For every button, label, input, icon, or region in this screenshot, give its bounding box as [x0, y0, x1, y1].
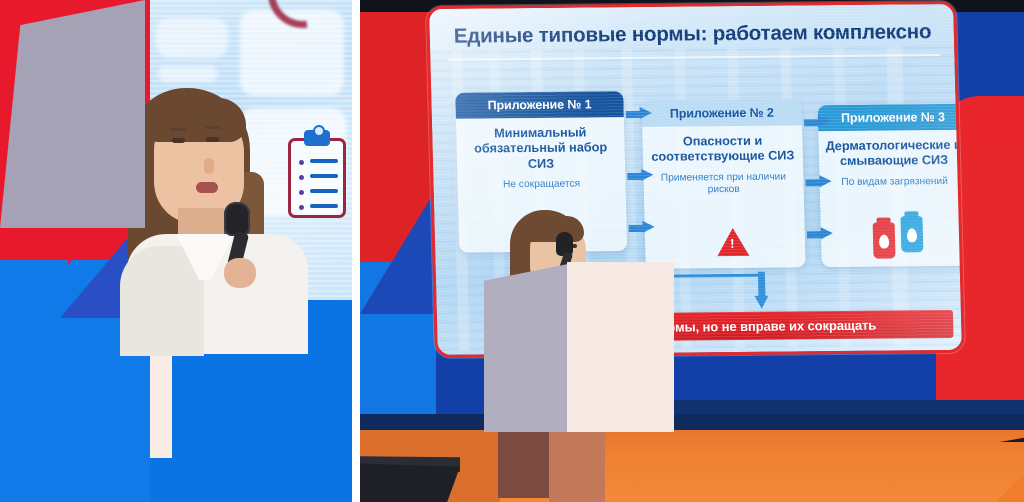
left-speaker-figure — [120, 82, 310, 342]
eye — [206, 137, 219, 142]
hand — [224, 258, 256, 288]
screenshot-root: Единые типовые нормы: работаем комплексн… — [0, 0, 1024, 502]
tube-blue — [900, 216, 923, 252]
tube-drop — [879, 235, 889, 249]
flow-arrow-right — [626, 107, 652, 120]
stage-monitor-speaker — [360, 462, 460, 502]
checklist-line — [310, 174, 338, 178]
flow-arrow-right — [805, 175, 831, 188]
flow-arrow-right — [807, 227, 833, 240]
right-photo-panel: Единые типовые нормы: работаем комплексн… — [360, 0, 1024, 502]
podium-stem — [549, 424, 605, 502]
eye — [172, 138, 185, 143]
card-header: Приложение № 2 — [641, 99, 802, 127]
slide-title: Единые типовые нормы: работаем комплексн… — [453, 20, 934, 49]
card-sub-text: Не сокращается — [463, 179, 619, 193]
checklist-line — [310, 189, 338, 193]
card-header: Приложение № 3 — [818, 104, 965, 131]
card-main-text: Опасности и соответствующие СИЗ — [648, 133, 797, 165]
checklist-line — [310, 204, 338, 208]
hair-fringe — [148, 98, 246, 142]
nose — [204, 158, 214, 174]
blurred-card — [158, 66, 218, 82]
cream-tubes-icon — [872, 216, 929, 261]
panel-divider — [352, 0, 360, 502]
tube-drop — [907, 228, 917, 242]
podium-front-face — [567, 262, 674, 432]
mouth — [196, 182, 218, 193]
blurred-card — [156, 18, 228, 58]
left-photo-panel — [0, 0, 352, 502]
eyebrow — [205, 126, 221, 129]
flow-arrow-right — [804, 115, 830, 128]
card-main-text: Дерматологические и смывающие СИЗ — [824, 138, 963, 170]
card-sub-text: По видам загрязнений — [825, 176, 963, 190]
tube-cap — [877, 218, 891, 224]
tube-red — [873, 222, 896, 258]
card-main-text: Минимальный обязательный набор СИЗ — [462, 125, 619, 173]
tube-cap — [904, 211, 918, 217]
warning-triangle-icon — [717, 228, 750, 256]
podium-side-face — [0, 0, 145, 228]
hair-fringe — [524, 216, 584, 242]
flow-arrow-right — [629, 221, 655, 234]
checklist-line — [310, 159, 338, 163]
flow-arrow-right — [627, 169, 653, 182]
card-sub-text: Применяется при наличии рисков — [649, 171, 798, 197]
eyebrow — [170, 128, 186, 131]
flow-arrow-down — [754, 272, 769, 312]
podium-stem — [498, 424, 550, 498]
card-header: Приложение № 1 — [455, 91, 624, 119]
podium-side-face — [484, 264, 568, 432]
